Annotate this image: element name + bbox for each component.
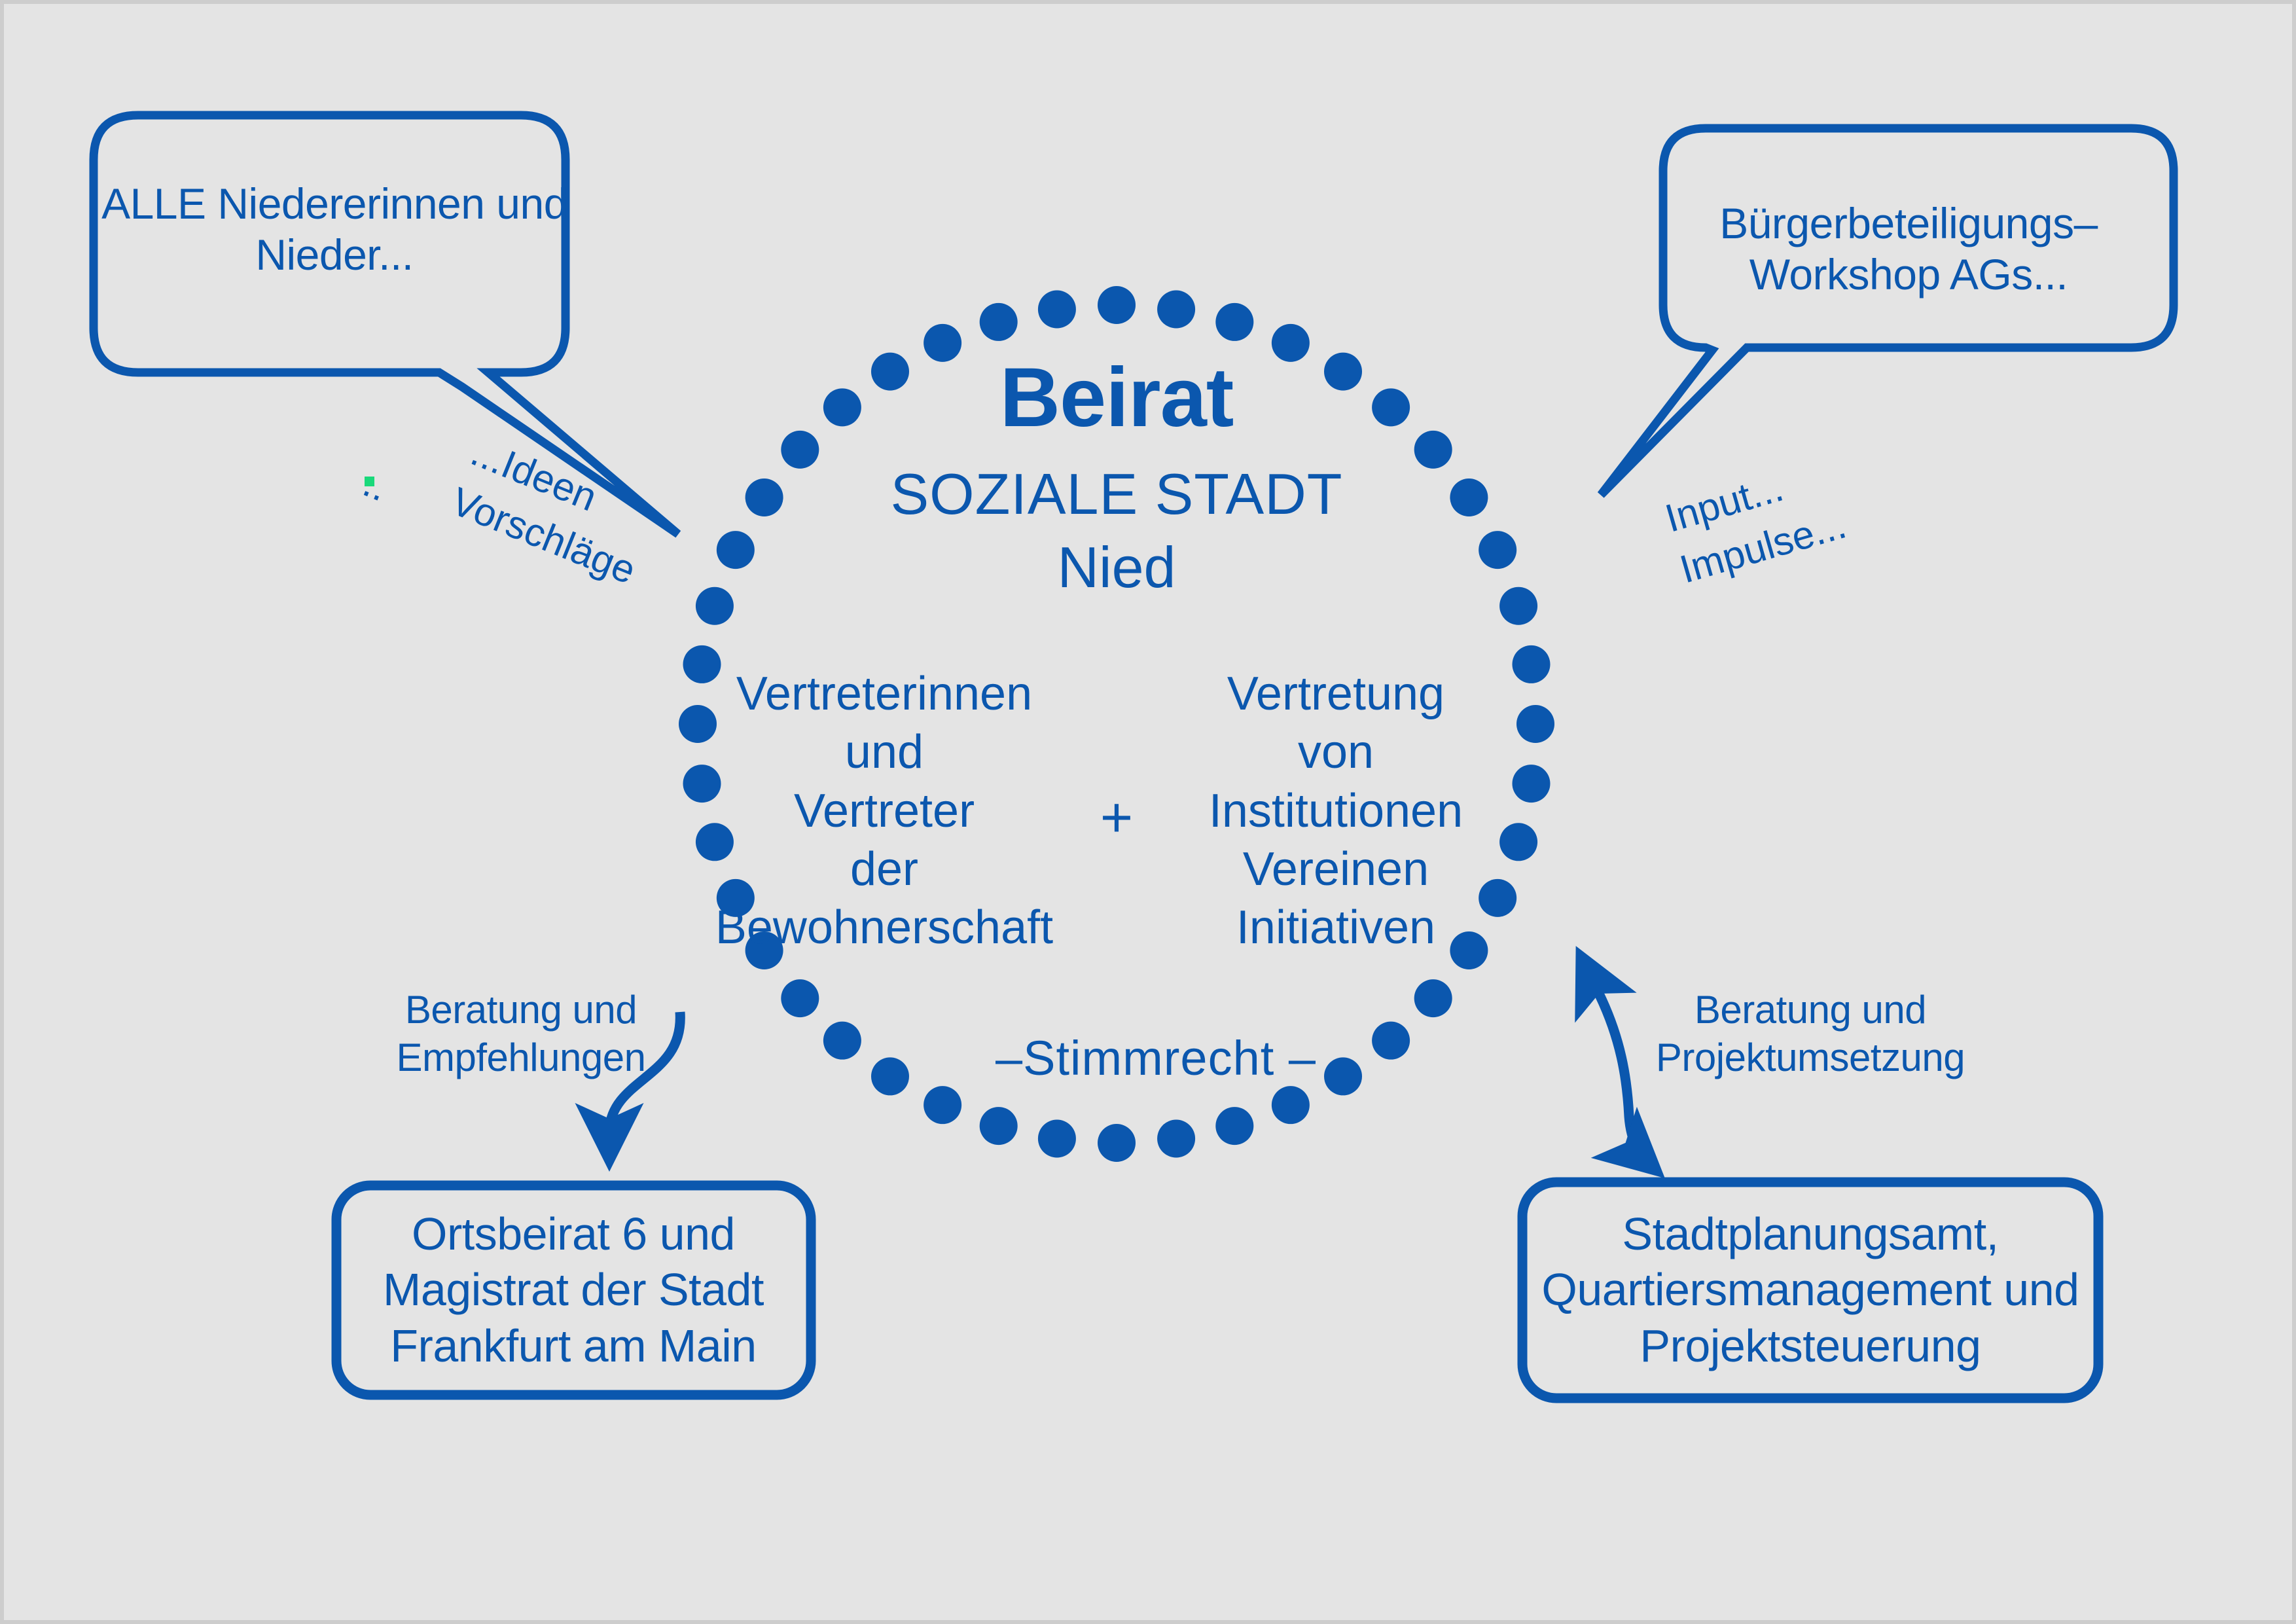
- ring-dot: [924, 1086, 961, 1124]
- green-accent-dot: [365, 477, 374, 486]
- ring-dot: [871, 1057, 909, 1095]
- center-subtitle-line2: Nied: [776, 535, 1457, 600]
- center-title: Beirat: [776, 351, 1457, 444]
- ring-dot: [717, 531, 755, 569]
- ring-dot: [1272, 1086, 1310, 1124]
- label-beratung-empfehlungen: Beratung und Empfehlungen: [351, 986, 691, 1081]
- ring-dot: [1215, 303, 1253, 341]
- ring-dot: [679, 705, 717, 743]
- ring-dot: [1157, 1119, 1195, 1157]
- ring-dot: [1157, 291, 1195, 329]
- plus-sign: +: [1071, 786, 1162, 849]
- speech-bubble-left-text: ALLE Niedererinnen und Nieder...: [96, 118, 573, 341]
- ring-dot: [1414, 979, 1452, 1017]
- ring-dot: [1516, 705, 1554, 743]
- ring-dot: [1499, 587, 1537, 625]
- center-column-left: Vertreterinnen und Vertreter der Bewohne…: [714, 665, 1054, 957]
- label-beratung-projektumsetzung: Beratung und Projektumsetzung: [1627, 986, 1994, 1081]
- center-column-right: Vertretung von Institutionen Vereinen In…: [1179, 665, 1493, 957]
- ring-dot: [1038, 1119, 1076, 1157]
- box-bottom-left-text: Ortsbeirat 6 und Magistrat der Stadt Fra…: [344, 1192, 802, 1388]
- ring-dot: [1098, 1124, 1136, 1162]
- diagram-canvas: ALLE Niedererinnen und Nieder... Bürgerb…: [0, 0, 2296, 1624]
- ring-dot: [696, 587, 734, 625]
- ring-dot: [980, 303, 1018, 341]
- ring-dot: [1512, 645, 1550, 683]
- speech-bubble-right-text: Bürgerbeteiligungs– Workshop AGs...: [1679, 151, 2138, 348]
- ring-dot: [1479, 531, 1516, 569]
- ring-dot: [1512, 765, 1550, 803]
- ring-dot: [1499, 823, 1537, 861]
- ring-dot: [1038, 291, 1076, 329]
- ring-dot: [1215, 1107, 1253, 1145]
- ring-dot: [823, 1022, 861, 1060]
- stimmrecht-label: –Stimmrecht –: [907, 1032, 1405, 1086]
- ring-dot: [781, 979, 819, 1017]
- ring-dot: [980, 1107, 1018, 1145]
- ring-dot: [1098, 286, 1136, 324]
- box-bottom-right-text: Stadtplanungsamt, Quartiersmanagement un…: [1529, 1192, 2092, 1388]
- center-subtitle-line1: SOZIALE STADT: [776, 462, 1457, 527]
